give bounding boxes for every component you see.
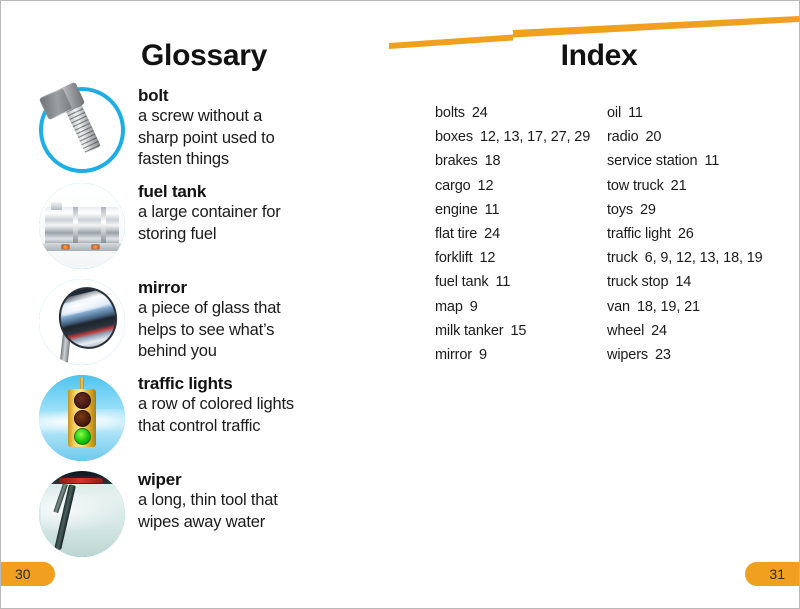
index-term: toys <box>607 202 633 218</box>
mirror-photo-thumb <box>39 279 125 365</box>
page-title-glossary: Glossary <box>141 39 267 73</box>
index-row: radio20 <box>607 125 795 149</box>
index-row: traffic light26 <box>607 222 795 246</box>
glossary-definition: a row of colored lights that control tra… <box>138 394 393 437</box>
traffic-light-icon <box>39 375 125 461</box>
glossary-entry: wiper a long, thin tool that wipes away … <box>1 469 401 565</box>
index-term: cargo <box>435 178 471 194</box>
index-row: flat tire24 <box>435 222 607 246</box>
index-pages: 11 <box>704 153 719 169</box>
index-term: engine <box>435 202 478 218</box>
index-pages: 12, 13, 17, 27, 29 <box>480 129 590 145</box>
fuel-tank-icon <box>39 183 125 269</box>
index-column-b: oil11 radio20 service station11 tow truc… <box>607 101 795 367</box>
index-row: engine11 <box>435 198 607 222</box>
index-pages: 9 <box>479 347 487 363</box>
index-row: forklift12 <box>435 246 607 270</box>
index-row: bolts24 <box>435 101 607 125</box>
glossary-term: bolt <box>138 85 393 106</box>
index-term: service station <box>607 153 697 169</box>
glossary-entry-list: bolt a screw without a sharp point used … <box>1 85 401 565</box>
index-pages: 26 <box>678 226 694 242</box>
index-term: truck stop <box>607 274 668 290</box>
index-pages: 12 <box>478 178 494 194</box>
wiper-photo-thumb <box>39 471 125 557</box>
index-pages: 24 <box>484 226 500 242</box>
page-title-index: Index <box>399 39 799 73</box>
glossary-definition: a screw without a sharp point used to fa… <box>138 106 393 171</box>
page-number-left: 30 <box>0 562 55 586</box>
glossary-term: wiper <box>138 469 393 490</box>
index-row: milk tanker15 <box>435 319 607 343</box>
index-term: brakes <box>435 153 478 169</box>
glossary-definition: a long, thin tool that wipes away water <box>138 490 393 533</box>
index-term: bolts <box>435 105 465 121</box>
fuel-tank-photo-thumb <box>39 183 125 269</box>
index-row: map9 <box>435 295 607 319</box>
index-row: oil11 <box>607 101 795 125</box>
index-pages: 18, 19, 21 <box>637 299 700 315</box>
index-row: service station11 <box>607 149 795 173</box>
glossary-definition: a large container for storing fuel <box>138 202 393 245</box>
index-pages: 29 <box>640 202 656 218</box>
index-pages: 18 <box>485 153 501 169</box>
index-columns: bolts24 boxes12, 13, 17, 27, 29 brakes18… <box>435 101 795 367</box>
glossary-entry: mirror a piece of glass that helps to se… <box>1 277 401 373</box>
index-term: truck <box>607 250 638 266</box>
index-pages: 14 <box>675 274 691 290</box>
index-row: wheel24 <box>607 319 795 343</box>
index-row: boxes12, 13, 17, 27, 29 <box>435 125 607 149</box>
index-term: wipers <box>607 347 648 363</box>
index-column-a: bolts24 boxes12, 13, 17, 27, 29 brakes18… <box>435 101 607 367</box>
index-pages: 23 <box>655 347 671 363</box>
index-term: flat tire <box>435 226 477 242</box>
glossary-entry: bolt a screw without a sharp point used … <box>1 85 401 181</box>
index-pages: 11 <box>495 274 510 290</box>
index-term: boxes <box>435 129 473 145</box>
glossary-term: fuel tank <box>138 181 393 202</box>
index-term: mirror <box>435 347 472 363</box>
book-spread: Glossary bolt a screw without a sharp po… <box>0 0 800 609</box>
index-term: fuel tank <box>435 274 488 290</box>
traffic-lights-photo-thumb <box>39 375 125 461</box>
index-row: truck6, 9, 12, 13, 18, 19 <box>607 246 795 270</box>
index-row: wipers23 <box>607 343 795 367</box>
index-row: fuel tank11 <box>435 270 607 294</box>
index-row: tow truck21 <box>607 174 795 198</box>
index-term: forklift <box>435 250 472 266</box>
glossary-entry: traffic lights a row of colored lights t… <box>1 373 401 469</box>
glossary-term: mirror <box>138 277 393 298</box>
index-pages: 11 <box>485 202 500 218</box>
index-row: truck stop14 <box>607 270 795 294</box>
index-row: toys29 <box>607 198 795 222</box>
bolt-photo-thumb <box>39 87 125 173</box>
index-row: cargo12 <box>435 174 607 198</box>
index-term: map <box>435 299 463 315</box>
index-term: wheel <box>607 323 644 339</box>
glossary-entry: fuel tank a large container for storing … <box>1 181 401 277</box>
index-pages: 11 <box>628 105 643 121</box>
index-pages: 6, 9, 12, 13, 18, 19 <box>645 250 763 266</box>
index-pages: 21 <box>671 178 687 194</box>
index-term: milk tanker <box>435 323 503 339</box>
index-pages: 12 <box>479 250 495 266</box>
glossary-definition: a piece of glass that helps to see what’… <box>138 298 393 363</box>
index-term: radio <box>607 129 639 145</box>
glossary-term: traffic lights <box>138 373 393 394</box>
index-pages: 24 <box>472 105 488 121</box>
index-pages: 24 <box>651 323 667 339</box>
index-term: van <box>607 299 630 315</box>
glossary-page: Glossary bolt a screw without a sharp po… <box>1 1 401 608</box>
index-pages: 20 <box>646 129 662 145</box>
index-term: tow truck <box>607 178 664 194</box>
mirror-icon <box>39 279 125 365</box>
bolt-icon <box>35 83 121 169</box>
index-term: oil <box>607 105 621 121</box>
index-row: van18, 19, 21 <box>607 295 795 319</box>
index-row: mirror9 <box>435 343 607 367</box>
wiper-icon <box>39 471 125 557</box>
index-term: traffic light <box>607 226 671 242</box>
index-page: Index bolts24 boxes12, 13, 17, 27, 29 br… <box>399 1 799 608</box>
index-pages: 15 <box>510 323 526 339</box>
index-row: brakes18 <box>435 149 607 173</box>
page-number-right: 31 <box>745 562 800 586</box>
index-pages: 9 <box>470 299 478 315</box>
